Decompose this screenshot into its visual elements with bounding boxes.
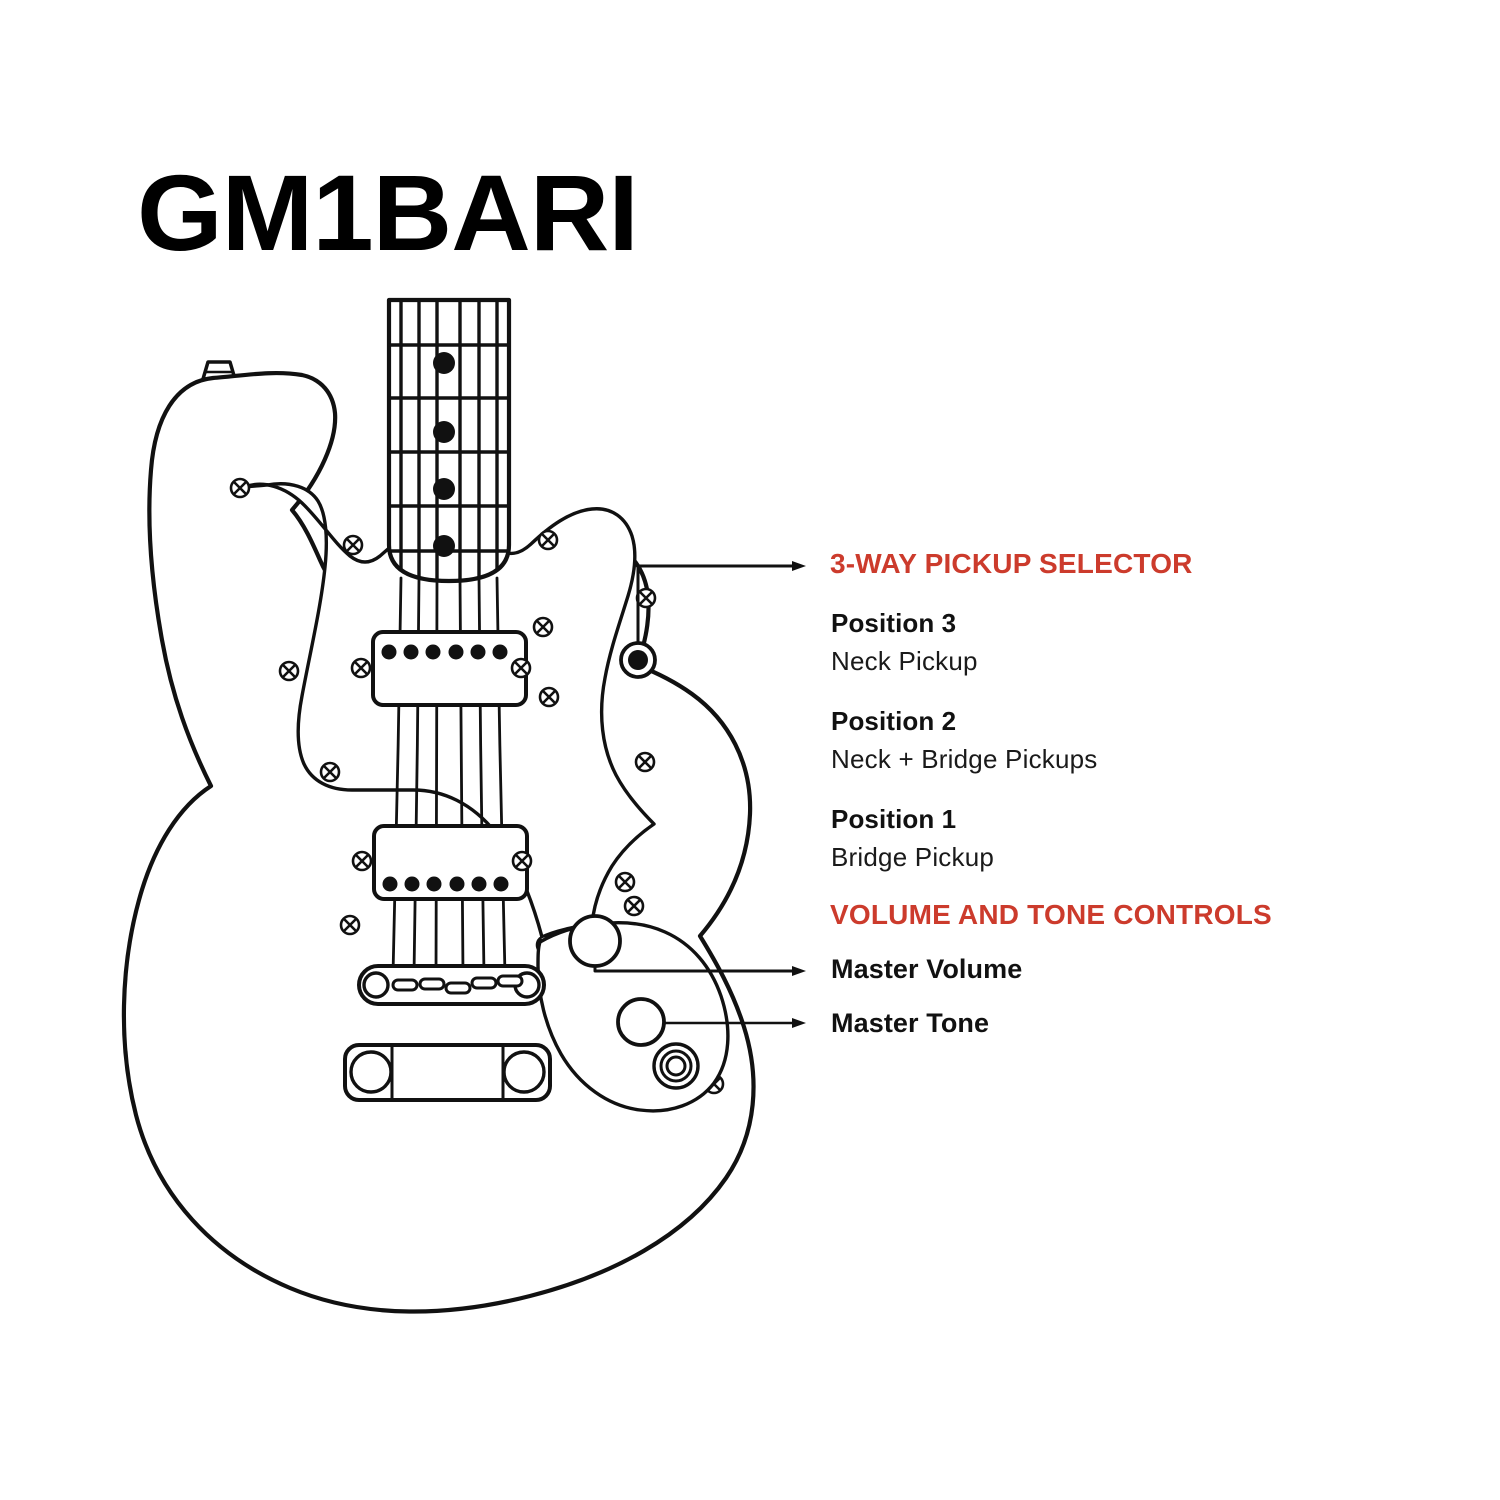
neck-pickup-poles bbox=[382, 645, 508, 660]
leader-selector bbox=[638, 566, 793, 643]
control-plate-outline bbox=[538, 923, 728, 1111]
bridge-pickup-poles bbox=[383, 877, 509, 892]
callout-leaders bbox=[638, 566, 793, 643]
position-1-description: Bridge Pickup bbox=[831, 842, 994, 873]
bridge bbox=[359, 966, 544, 1004]
tailpiece bbox=[345, 1045, 550, 1100]
fretboard bbox=[386, 298, 512, 585]
pickup-selector-switch[interactable] bbox=[621, 643, 655, 677]
output-jack bbox=[654, 1044, 698, 1088]
leader-volume bbox=[595, 966, 793, 971]
pickguard-outline bbox=[245, 484, 654, 937]
position-3-label: Position 3 bbox=[831, 608, 956, 639]
master-tone-label: Master Tone bbox=[831, 1008, 989, 1039]
selector-heading: 3-WAY PICKUP SELECTOR bbox=[830, 548, 1193, 580]
position-2-description: Neck + Bridge Pickups bbox=[831, 744, 1098, 775]
controls-heading: VOLUME AND TONE CONTROLS bbox=[830, 899, 1272, 931]
diagram-canvas: GM1BARI bbox=[0, 0, 1500, 1500]
position-2-label: Position 2 bbox=[831, 706, 956, 737]
strap-button-bottom-icon bbox=[425, 1288, 456, 1306]
position-3-description: Neck Pickup bbox=[831, 646, 978, 677]
callout-leaders-controls bbox=[595, 966, 793, 971]
position-1-label: Position 1 bbox=[831, 804, 956, 835]
neck-pickup bbox=[352, 632, 530, 705]
strings bbox=[393, 578, 505, 975]
bridge-saddles bbox=[393, 976, 522, 993]
pickguard-screws bbox=[231, 479, 723, 1093]
page-title: GM1BARI bbox=[137, 159, 638, 267]
master-tone-knob[interactable] bbox=[618, 999, 664, 1045]
bridge-pickup bbox=[353, 826, 531, 899]
master-volume-knob[interactable] bbox=[570, 916, 620, 966]
master-volume-label: Master Volume bbox=[831, 954, 1022, 985]
strap-button-top-icon bbox=[203, 362, 235, 379]
fret-inlay-dots bbox=[433, 352, 455, 557]
guitar-body-outline bbox=[124, 373, 754, 1311]
